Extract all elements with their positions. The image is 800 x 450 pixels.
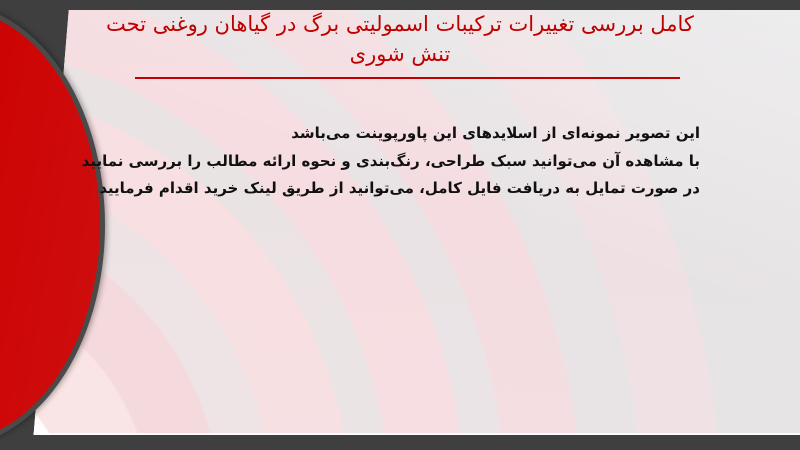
bottom-frame-band bbox=[0, 435, 800, 450]
title-underline-rule bbox=[135, 77, 680, 79]
presentation-slide: کامل بررسی تغییرات ترکیبات اسمولیتی برگ … bbox=[0, 0, 800, 450]
body-line-1: این تصویر نمونه‌ای از اسلایدهای این پاور… bbox=[120, 120, 700, 148]
slide-content-panel bbox=[0, 10, 800, 435]
panel-sheen-overlay bbox=[0, 10, 800, 435]
slide-title: کامل بررسی تغییرات ترکیبات اسمولیتی برگ … bbox=[100, 10, 700, 70]
body-line-2: با مشاهده آن می‌توانید سبک طراحی، رنگ‌بن… bbox=[120, 148, 700, 176]
top-frame-band bbox=[0, 0, 800, 10]
slide-body-text: این تصویر نمونه‌ای از اسلایدهای این پاور… bbox=[120, 120, 700, 203]
body-line-3: در صورت تمایل به دریافت فایل کامل، می‌تو… bbox=[120, 175, 700, 203]
